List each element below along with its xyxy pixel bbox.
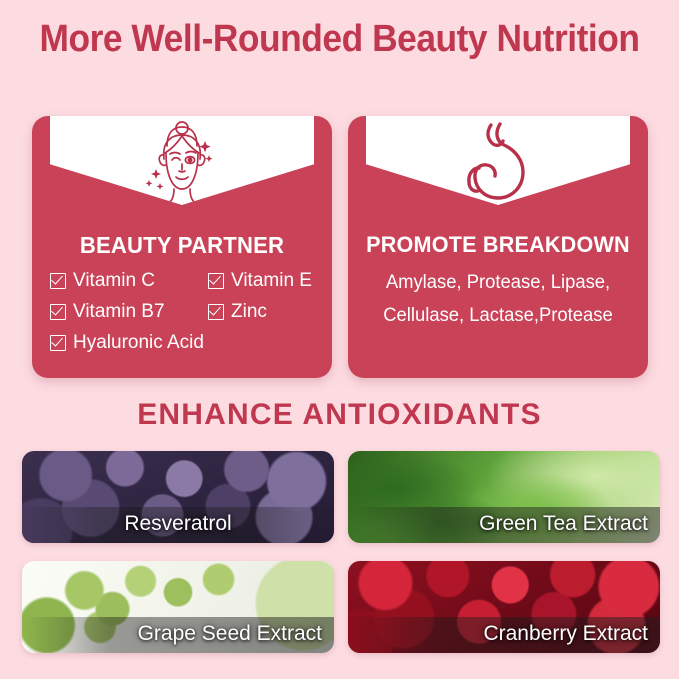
- checkbox-icon: [50, 304, 66, 320]
- list-item: Hyaluronic Acid: [50, 328, 204, 357]
- checkbox-icon: [50, 273, 66, 289]
- page-title: More Well-Rounded Beauty Nutrition: [24, 18, 655, 61]
- list-item: Vitamin C: [50, 266, 204, 295]
- beauty-partner-column-1: Vitamin C Vitamin B7 Hyaluronic Acid: [50, 266, 204, 359]
- list-item-label: Vitamin E: [231, 266, 312, 295]
- tile-label: Cranberry Extract: [348, 619, 660, 649]
- enzyme-line: Amylase, Protease, Lipase,: [353, 266, 644, 299]
- list-item-label: Vitamin B7: [73, 297, 165, 326]
- stomach-icon: [366, 119, 630, 205]
- tile-label: Resveratrol: [22, 509, 334, 539]
- checkbox-icon: [50, 335, 66, 351]
- card-title-promote-breakdown: PROMOTE BREAKDOWN: [354, 232, 642, 258]
- list-item: Vitamin E: [208, 266, 312, 295]
- list-item-label: Hyaluronic Acid: [73, 328, 204, 357]
- enzyme-line: Cellulase, Lactase,Protease: [353, 299, 644, 332]
- list-item: Vitamin B7: [50, 297, 204, 326]
- tile-green-tea-extract: Green Tea Extract: [348, 451, 660, 543]
- card-beauty-partner: BEAUTY PARTNER Vitamin C Vitamin B7 Hyal…: [32, 116, 332, 378]
- tile-cranberry-extract: Cranberry Extract: [348, 561, 660, 653]
- tile-label: Grape Seed Extract: [22, 619, 334, 649]
- enzyme-list: Amylase, Protease, Lipase, Cellulase, La…: [353, 266, 644, 332]
- tile-grape-seed-extract: Grape Seed Extract: [22, 561, 334, 653]
- list-item-label: Zinc: [231, 297, 267, 326]
- card-flap: [366, 116, 630, 205]
- tile-resveratrol: Resveratrol: [22, 451, 334, 543]
- card-flap: [50, 116, 314, 205]
- woman-face-sparkle-icon: [50, 119, 314, 207]
- checkbox-icon: [208, 273, 224, 289]
- checkbox-icon: [208, 304, 224, 320]
- list-item-label: Vitamin C: [73, 266, 155, 295]
- card-title-beauty-partner: BEAUTY PARTNER: [38, 232, 326, 259]
- list-item: Zinc: [208, 297, 312, 326]
- section-heading-antioxidants: ENHANCE ANTIOXIDANTS: [0, 398, 679, 432]
- beauty-partner-column-2: Vitamin E Zinc: [208, 266, 312, 328]
- card-promote-breakdown: PROMOTE BREAKDOWN Amylase, Protease, Lip…: [348, 116, 648, 378]
- tile-label: Green Tea Extract: [348, 509, 660, 539]
